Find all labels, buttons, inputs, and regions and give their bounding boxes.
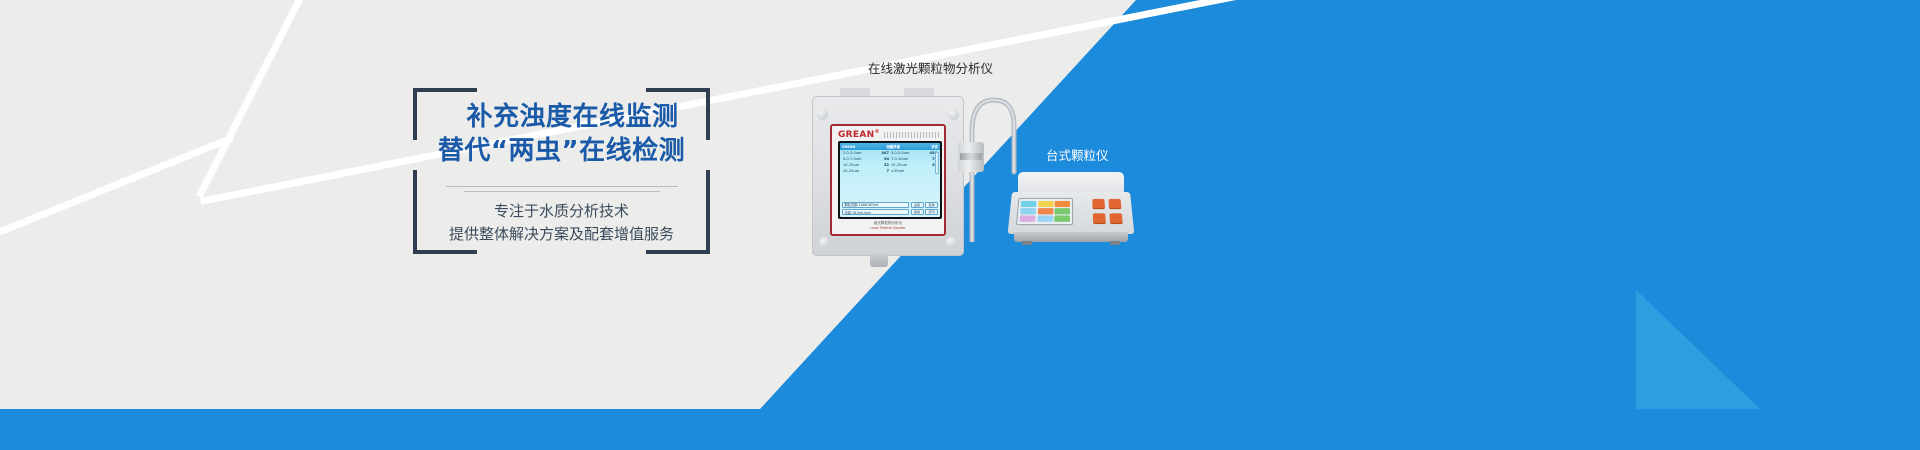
display-title-center: 测量界面 xyxy=(886,144,900,149)
display-button-query[interactable]: 查询 xyxy=(925,202,938,208)
analyzer-display[interactable]: GREAN 测量界面 状态 2.0-3.0um 447 3.0-5.0um 45… xyxy=(840,143,940,217)
table-count: 52 xyxy=(881,164,889,168)
benchtop-keypad[interactable] xyxy=(1092,199,1123,224)
analyzer-brand-logo: GREAN® xyxy=(838,129,880,140)
display-footer-row-1: 颗粒总数:1166CNT/mL 设置 查询 xyxy=(842,202,938,208)
display-scrollbar[interactable] xyxy=(935,152,939,174)
analyzer-knob-top-left xyxy=(817,109,828,120)
display-button-settings[interactable]: 设置 xyxy=(911,202,924,208)
display-title-right: 状态 xyxy=(931,144,938,149)
keypad-button[interactable] xyxy=(1108,199,1121,209)
analyzer-nameplate: 激光颗粒物分析仪 Laser Particle Counter xyxy=(832,221,944,231)
decorative-stripe-a xyxy=(196,0,357,198)
screen-tile xyxy=(1054,216,1070,222)
total-count-field: 颗粒总数:1166CNT/mL xyxy=(842,202,909,208)
display-footer: 颗粒总数:1166CNT/mL 设置 查询 流量:78.2mL/min 启动 打… xyxy=(842,200,938,215)
table-count: 7 xyxy=(881,170,889,174)
benchtop-control-panel xyxy=(1008,192,1135,234)
particle-size-table: 2.0-3.0um 447 3.0-5.0um 454 5.0-7.0um 94… xyxy=(840,150,940,174)
subtitle-line-1: 专注于水质分析技术 xyxy=(413,200,710,223)
flow-rate-field: 流量:78.2mL/min xyxy=(842,209,909,215)
analyzer-enclosure: GREAN® GREAN 测量界面 状态 2.0-3.0um 447 3. xyxy=(812,96,964,256)
headline-divider xyxy=(413,186,710,192)
analyzer-brand-text: GREAN xyxy=(838,130,874,140)
headline: 补充浊度在线监测 替代“两虫”在线检测 xyxy=(413,100,710,168)
inline-valve xyxy=(958,142,984,172)
screen-tile xyxy=(1021,201,1037,207)
analyzer-cable-gland xyxy=(870,254,888,267)
table-range: 10-15um xyxy=(843,164,879,168)
benchtop-foot-left xyxy=(1022,241,1032,245)
screen-tile xyxy=(1020,208,1036,214)
analyzer-knob-bottom-right xyxy=(946,237,957,248)
analyzer-knob-top-right xyxy=(948,109,959,120)
table-count: 447 xyxy=(881,152,889,156)
analyzer-nameplate-en: Laser Particle Counter xyxy=(832,226,944,231)
table-count: 94 xyxy=(881,158,889,162)
benchtop-particle-counter xyxy=(1012,172,1130,242)
analyzer-brand-trademark: ® xyxy=(874,129,879,135)
divider-line-lower xyxy=(464,191,660,192)
display-title-bar: GREAN 测量界面 状态 xyxy=(840,143,940,150)
keypad-button[interactable] xyxy=(1092,199,1105,209)
display-button-start[interactable]: 启动 xyxy=(911,209,924,215)
analyzer-device-label: 在线激光颗粒物分析仪 xyxy=(868,58,993,77)
table-range: 5.0-7.0um xyxy=(843,158,879,162)
table-range: 3.0-5.0um xyxy=(891,152,927,156)
display-title-left: GREAN xyxy=(842,145,855,149)
analyzer-hatch-pattern xyxy=(884,132,939,138)
table-range: 20-25um xyxy=(843,170,879,174)
decorative-stripe-c xyxy=(0,135,234,239)
keypad-button[interactable] xyxy=(1109,213,1122,224)
screen-tile xyxy=(1037,216,1053,222)
screen-tile xyxy=(1055,201,1070,207)
subtitle-line-2: 提供整体解决方案及配套增值服务 xyxy=(413,223,710,246)
headline-line-1: 补充浊度在线监测 xyxy=(413,100,710,134)
screen-tile xyxy=(1054,208,1070,214)
screen-tile xyxy=(1019,216,1035,222)
screen-tile xyxy=(1037,208,1053,214)
keypad-button[interactable] xyxy=(1093,213,1106,224)
analyzer-display-bezel: GREAN 测量界面 状态 2.0-3.0um 447 3.0-5.0um 45… xyxy=(838,141,942,219)
table-range: 15-20um xyxy=(891,164,927,168)
analyzer-knob-bottom-left xyxy=(819,237,830,248)
benchtop-device-label: 台式颗粒仪 xyxy=(1046,145,1109,164)
headline-line-2: 替代“两虫”在线检测 xyxy=(413,134,710,168)
online-laser-particle-analyzer: GREAN® GREAN 测量界面 状态 2.0-3.0um 447 3. xyxy=(812,88,964,266)
subtitle: 专注于水质分析技术 提供整体解决方案及配套增值服务 xyxy=(413,200,710,246)
analyzer-front-panel: GREAN® GREAN 测量界面 状态 2.0-3.0um 447 3. xyxy=(830,124,946,236)
display-footer-row-2: 流量:78.2mL/min 启动 打印 xyxy=(842,209,938,215)
screen-tile xyxy=(1038,201,1054,207)
benchtop-touchscreen[interactable] xyxy=(1016,198,1073,225)
divider-line-upper xyxy=(446,186,678,187)
display-button-print[interactable]: 打印 xyxy=(925,209,938,215)
benchtop-foot-right xyxy=(1110,241,1120,245)
table-range: 2.0-3.0um xyxy=(843,152,879,156)
headline-panel: 补充浊度在线监测 替代“两虫”在线检测 专注于水质分析技术 提供整体解决方案及配… xyxy=(413,88,710,254)
table-range: >25um xyxy=(891,170,927,174)
table-range: 7.0-10um xyxy=(891,158,927,162)
promo-banner: 补充浊度在线监测 替代“两虫”在线检测 专注于水质分析技术 提供整体解决方案及配… xyxy=(0,0,1920,450)
